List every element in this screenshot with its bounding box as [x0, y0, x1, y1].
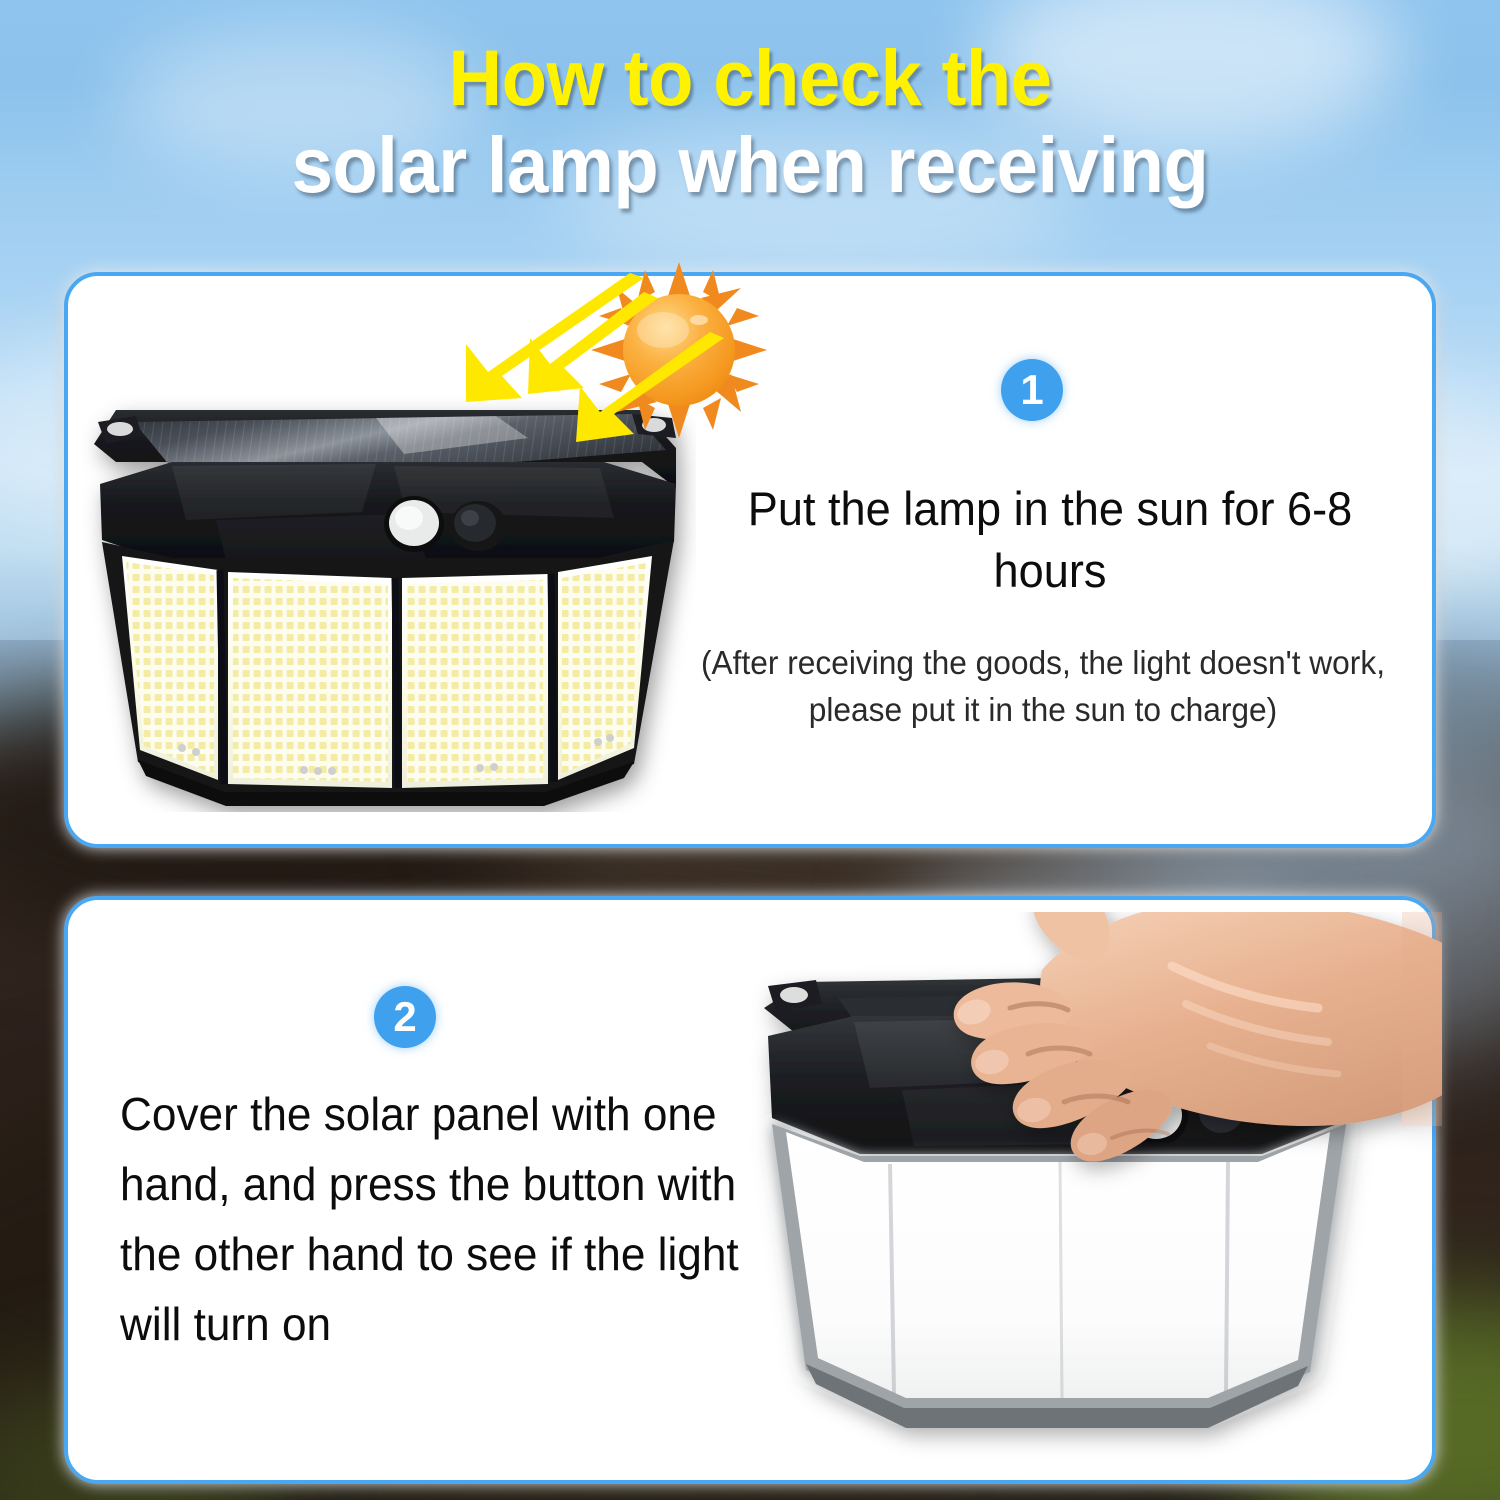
- solar-lamp-with-hand-image-step-2: [742, 912, 1442, 1472]
- step-2-heading: Cover the solar panel with one hand, and…: [120, 1080, 754, 1360]
- page-title: How to check the solar lamp when receivi…: [0, 38, 1500, 205]
- step-1-heading: Put the lamp in the sun for 6-8 hours: [714, 478, 1386, 602]
- page-title-line-1: How to check the: [45, 38, 1455, 119]
- sun-with-rays-graphic: [584, 272, 774, 462]
- step-2-badge: 2: [374, 986, 436, 1048]
- step-1-subtext: (After receiving the goods, the light do…: [664, 640, 1422, 734]
- step-1-badge: 1: [1001, 359, 1063, 421]
- page-title-line-2: solar lamp when receiving: [45, 125, 1455, 206]
- infographic-page: How to check the solar lamp when receivi…: [0, 0, 1500, 1500]
